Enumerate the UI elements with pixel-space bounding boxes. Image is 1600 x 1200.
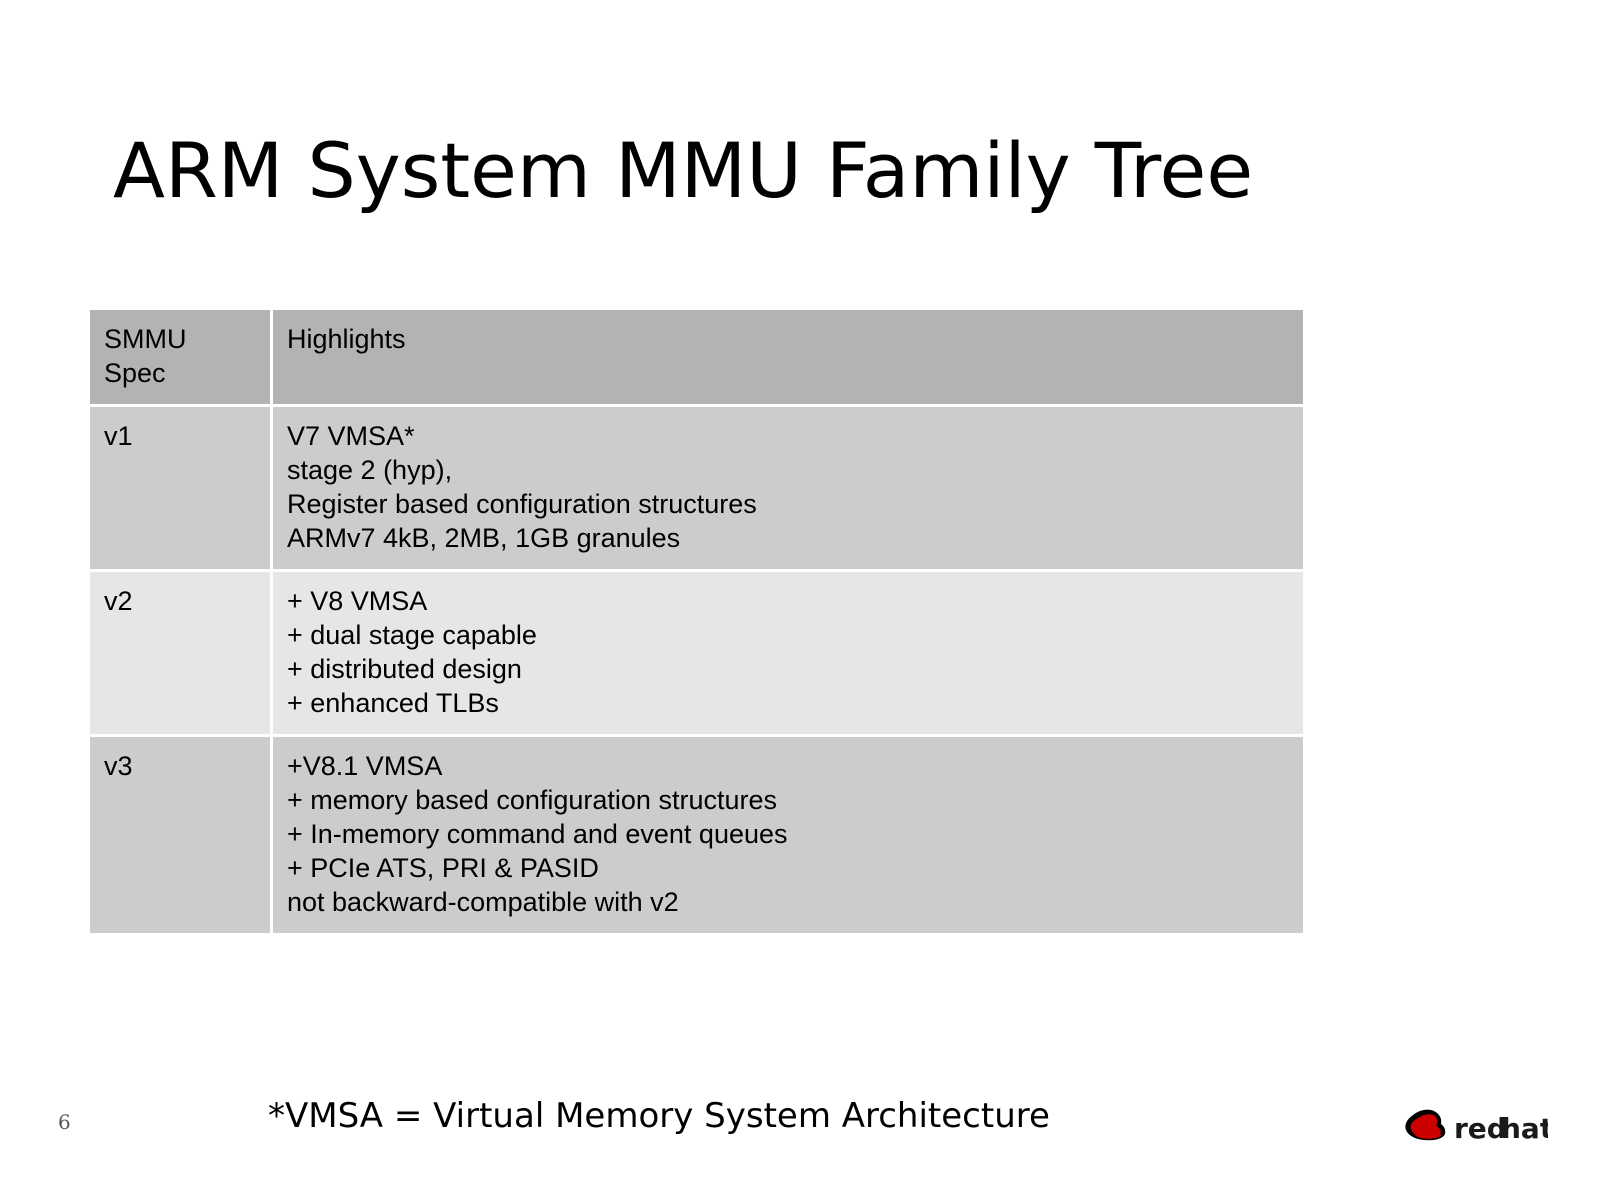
- footnote-text: *VMSA = Virtual Memory System Architectu…: [268, 1096, 1050, 1136]
- column-header-highlights: Highlights: [273, 310, 1303, 407]
- column-header-line: Spec: [104, 356, 256, 390]
- highlight-line: +V8.1 VMSA: [287, 749, 1289, 783]
- cell-highlights-v3: +V8.1 VMSA + memory based configuration …: [273, 737, 1303, 933]
- smmu-spec-table: SMMU Spec Highlights v1 V7 VMSA* stage 2…: [90, 310, 1303, 933]
- cell-spec-v3: v3: [90, 737, 273, 933]
- highlight-line: + PCIe ATS, PRI & PASID: [287, 851, 1289, 885]
- highlight-line: + dual stage capable: [287, 618, 1289, 652]
- highlight-line: + In-memory command and event queues: [287, 817, 1289, 851]
- redhat-logo-icon: red hat: [1400, 1098, 1548, 1146]
- column-header-line: SMMU: [104, 322, 256, 356]
- column-header-line: Highlights: [287, 322, 1289, 356]
- highlight-line: Register based configuration structures: [287, 487, 1289, 521]
- table-row: v2 + V8 VMSA + dual stage capable + dist…: [90, 572, 1303, 737]
- logo-wordmark-hat: hat: [1501, 1112, 1548, 1145]
- highlight-line: not backward-compatible with v2: [287, 885, 1289, 919]
- column-header-smmu-spec: SMMU Spec: [90, 310, 273, 407]
- cell-highlights-v2: + V8 VMSA + dual stage capable + distrib…: [273, 572, 1303, 737]
- cell-highlights-v1: V7 VMSA* stage 2 (hyp), Register based c…: [273, 407, 1303, 572]
- highlight-line: stage 2 (hyp),: [287, 453, 1289, 487]
- column-header-highlights-lines: Highlights: [287, 322, 1289, 356]
- logo-wordmark-red: red: [1454, 1112, 1507, 1145]
- highlight-line: + distributed design: [287, 652, 1289, 686]
- redhat-logo: red hat: [1400, 1098, 1548, 1146]
- highlight-line: + memory based configuration structures: [287, 783, 1289, 817]
- highlight-list: V7 VMSA* stage 2 (hyp), Register based c…: [287, 419, 1289, 555]
- cell-spec-v2: v2: [90, 572, 273, 737]
- highlight-line: + V8 VMSA: [287, 584, 1289, 618]
- highlight-line: + enhanced TLBs: [287, 686, 1289, 720]
- highlight-list: +V8.1 VMSA + memory based configuration …: [287, 749, 1289, 919]
- column-header-smmu-spec-lines: SMMU Spec: [104, 322, 256, 390]
- highlight-list: + V8 VMSA + dual stage capable + distrib…: [287, 584, 1289, 720]
- cell-spec-v1: v1: [90, 407, 273, 572]
- table-row: v3 +V8.1 VMSA + memory based configurati…: [90, 737, 1303, 933]
- highlight-line: V7 VMSA*: [287, 419, 1289, 453]
- page-number: 6: [58, 1110, 71, 1134]
- highlight-line: ARMv7 4kB, 2MB, 1GB granules: [287, 521, 1289, 555]
- table-header-row: SMMU Spec Highlights: [90, 310, 1303, 407]
- page-title: ARM System MMU Family Tree: [113, 133, 1493, 209]
- table-row: v1 V7 VMSA* stage 2 (hyp), Register base…: [90, 407, 1303, 572]
